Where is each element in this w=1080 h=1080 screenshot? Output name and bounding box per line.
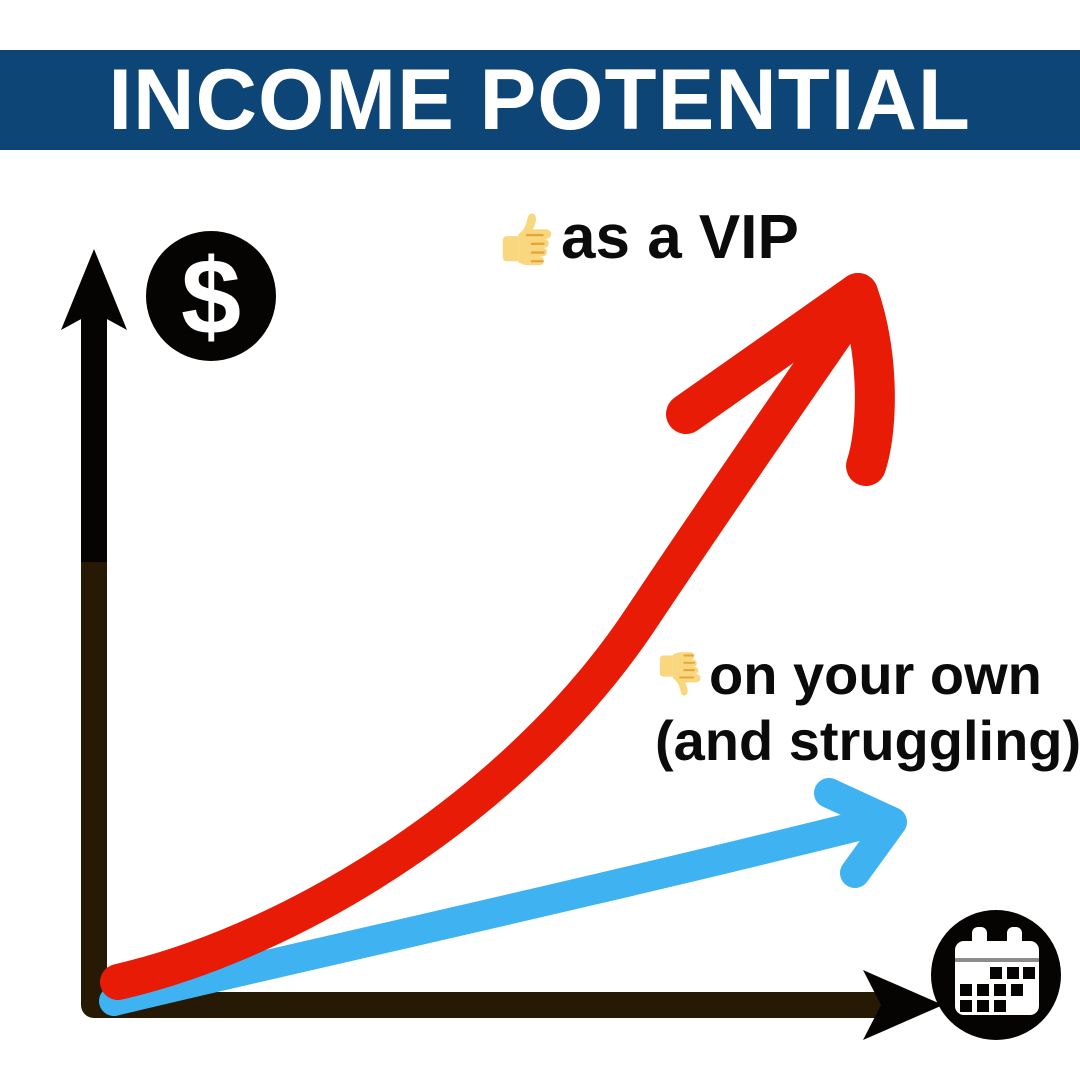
- thumbs-down-icon: [655, 649, 707, 701]
- series-arrowhead-as-a-vip-right: [858, 293, 875, 466]
- callout-as-a-vip-label: as a VIP: [561, 205, 799, 272]
- callout-on-your-own-label: on your own: [709, 645, 1042, 705]
- income-potential-chart: $: [0, 0, 1080, 1080]
- callout-as-a-vip: as a VIP: [497, 205, 799, 272]
- y-axis-shaft: [81, 300, 107, 562]
- thumbs-up-icon: [497, 207, 559, 269]
- callout-struggling-label: (and struggling): [655, 711, 1080, 771]
- callout-on-your-own: on your own (and struggling): [655, 645, 1080, 772]
- poster-canvas: INCOME POTENTIAL $: [0, 0, 1080, 1080]
- calendar-circle-icon: [931, 910, 1061, 1040]
- dollar-circle-icon: $: [146, 231, 276, 361]
- svg-text:$: $: [181, 236, 241, 357]
- callout-on-your-own-line1-row: on your own: [655, 645, 1080, 705]
- series-line-on-your-own: [114, 825, 862, 1001]
